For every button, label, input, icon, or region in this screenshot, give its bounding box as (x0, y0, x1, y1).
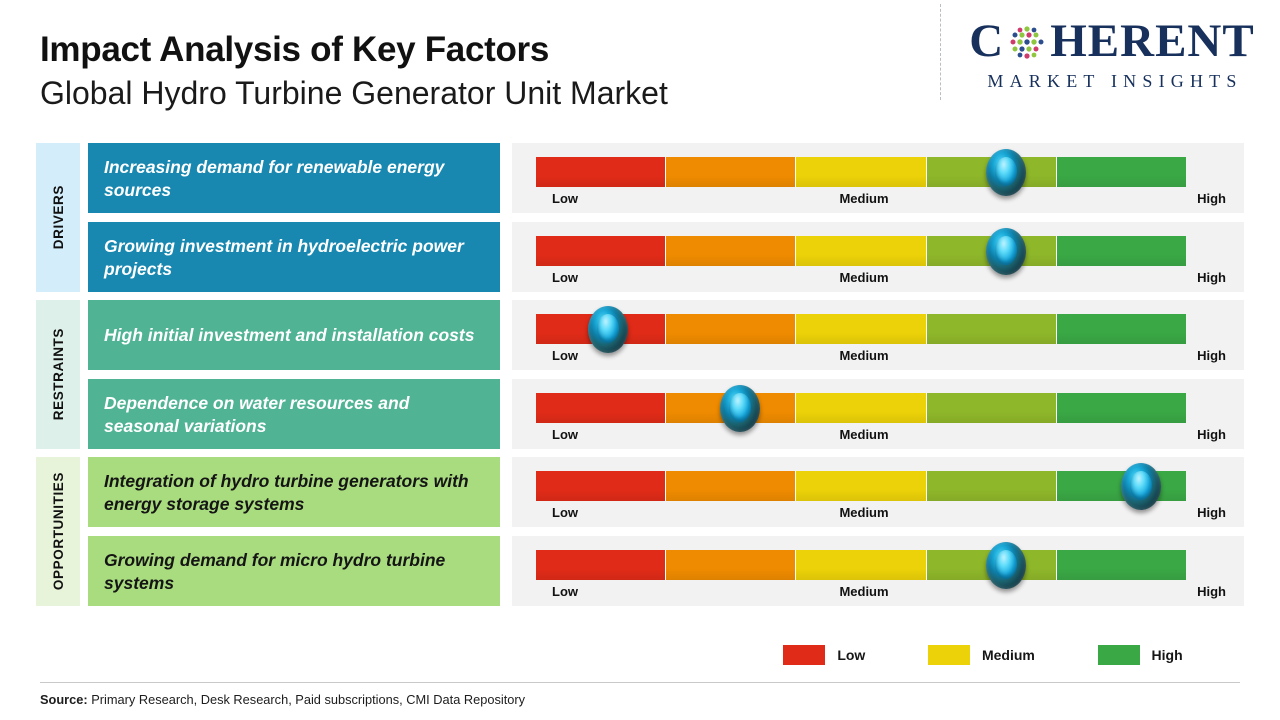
factor-box: Dependence on water resources and season… (88, 379, 500, 449)
impact-gauge: LowMediumHigh (512, 536, 1244, 606)
source-label: Source: (40, 692, 88, 707)
impact-marker[interactable] (986, 149, 1026, 196)
gauge-segment-4 (927, 471, 1057, 501)
gauge-segment-3 (796, 393, 926, 423)
gauge-label-high: High (1197, 191, 1226, 206)
gauge-segment-1 (536, 550, 666, 580)
gauge-label-high: High (1197, 348, 1226, 363)
gauge-label-medium: Medium (536, 270, 1226, 285)
factor-text: Growing demand for micro hydro turbine s… (104, 549, 484, 596)
impact-matrix: DRIVERSRESTRAINTSOPPORTUNITIESIncreasing… (0, 0, 1280, 720)
legend-swatch-medium (928, 645, 970, 665)
gauge-label-medium: Medium (536, 427, 1226, 442)
gauge-segment-3 (796, 471, 926, 501)
legend-item: Low (783, 645, 865, 665)
category-label-drivers: DRIVERS (36, 143, 80, 292)
gauge-scale-labels: LowMediumHigh (536, 584, 1226, 604)
impact-gauge: LowMediumHigh (512, 222, 1244, 292)
legend-swatch-low (783, 645, 825, 665)
gauge-segment-3 (796, 550, 926, 580)
gauge-segment-2 (666, 157, 796, 187)
legend-item: High (1098, 645, 1183, 665)
gauge-segment-2 (666, 236, 796, 266)
impact-marker[interactable] (986, 542, 1026, 589)
gauge-bar (536, 550, 1186, 580)
impact-gauge: LowMediumHigh (512, 379, 1244, 449)
gauge-segment-3 (796, 157, 926, 187)
impact-marker[interactable] (1121, 463, 1161, 510)
factor-text: Increasing demand for renewable energy s… (104, 156, 484, 203)
gauge-scale-labels: LowMediumHigh (536, 270, 1226, 290)
gauge-bar (536, 157, 1186, 187)
gauge-label-medium: Medium (536, 191, 1226, 206)
gauge-label-high: High (1197, 584, 1226, 599)
gauge-segment-5 (1057, 157, 1186, 187)
gauge-label-medium: Medium (536, 505, 1226, 520)
legend-label: Low (837, 647, 865, 663)
gauge-segment-2 (666, 314, 796, 344)
gauge-segment-1 (536, 157, 666, 187)
gauge-bar (536, 314, 1186, 344)
gauge-bar (536, 236, 1186, 266)
source-line: Source: Primary Research, Desk Research,… (40, 692, 525, 707)
factor-text: Integration of hydro turbine generators … (104, 470, 484, 517)
factor-box: Increasing demand for renewable energy s… (88, 143, 500, 213)
gauge-scale-labels: LowMediumHigh (536, 505, 1226, 525)
legend-label: Medium (982, 647, 1035, 663)
gauge-segment-3 (796, 236, 926, 266)
impact-gauge: LowMediumHigh (512, 143, 1244, 213)
gauge-segment-5 (1057, 236, 1186, 266)
gauge-segment-2 (666, 550, 796, 580)
category-label-text: RESTRAINTS (51, 328, 66, 420)
category-label-opportunities: OPPORTUNITIES (36, 457, 80, 606)
factor-text: Growing investment in hydroelectric powe… (104, 235, 484, 282)
gauge-segment-2 (666, 471, 796, 501)
legend-swatch-high (1098, 645, 1140, 665)
impact-marker[interactable] (588, 306, 628, 353)
gauge-segment-4 (927, 314, 1057, 344)
gauge-segment-4 (927, 393, 1057, 423)
factor-box: Growing demand for micro hydro turbine s… (88, 536, 500, 606)
gauge-segment-5 (1057, 550, 1186, 580)
gauge-label-high: High (1197, 270, 1226, 285)
gauge-scale-labels: LowMediumHigh (536, 191, 1226, 211)
gauge-segment-5 (1057, 393, 1186, 423)
category-label-restraints: RESTRAINTS (36, 300, 80, 449)
impact-gauge: LowMediumHigh (512, 457, 1244, 527)
factor-text: Dependence on water resources and season… (104, 392, 484, 439)
gauge-segment-3 (796, 314, 926, 344)
category-label-text: DRIVERS (51, 185, 66, 249)
factor-box: High initial investment and installation… (88, 300, 500, 370)
gauge-scale-labels: LowMediumHigh (536, 348, 1226, 368)
gauge-label-medium: Medium (536, 348, 1226, 363)
factor-text: High initial investment and installation… (104, 324, 474, 347)
gauge-label-high: High (1197, 427, 1226, 442)
impact-gauge: LowMediumHigh (512, 300, 1244, 370)
gauge-scale-labels: LowMediumHigh (536, 427, 1226, 447)
source-text: Primary Research, Desk Research, Paid su… (88, 692, 525, 707)
impact-marker[interactable] (720, 385, 760, 432)
gauge-label-high: High (1197, 505, 1226, 520)
legend-label: High (1152, 647, 1183, 663)
gauge-label-medium: Medium (536, 584, 1226, 599)
factor-box: Growing investment in hydroelectric powe… (88, 222, 500, 292)
gauge-bar (536, 393, 1186, 423)
gauge-bar (536, 471, 1186, 501)
gauge-segment-5 (1057, 314, 1186, 344)
legend: LowMediumHigh (512, 638, 1244, 672)
gauge-segment-1 (536, 393, 666, 423)
gauge-segment-1 (536, 471, 666, 501)
legend-item: Medium (928, 645, 1035, 665)
category-label-text: OPPORTUNITIES (51, 472, 66, 590)
impact-marker[interactable] (986, 228, 1026, 275)
gauge-segment-1 (536, 236, 666, 266)
factor-box: Integration of hydro turbine generators … (88, 457, 500, 527)
footer-divider (40, 682, 1240, 683)
